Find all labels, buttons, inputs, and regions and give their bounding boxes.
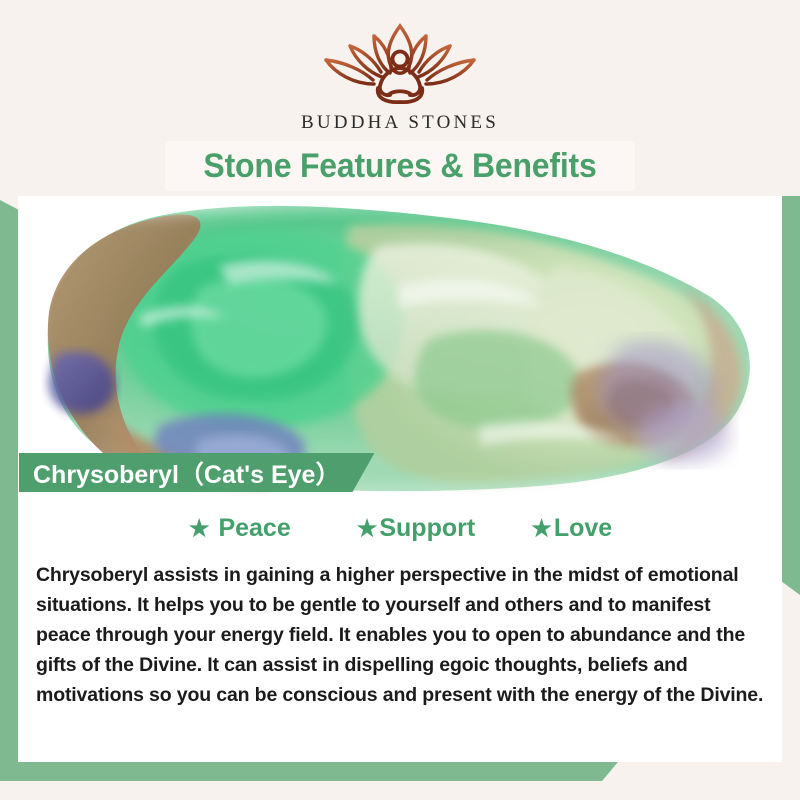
keyword-label: Love (554, 514, 612, 543)
card-header: BUDDHA STONES Stone Features & Benefits (0, 0, 800, 196)
star-icon: ★ (189, 517, 210, 540)
stone-name-banner: Chrysoberyl（Cat's Eye） (19, 453, 374, 492)
keyword-love: ★ Love (531, 514, 612, 543)
keyword-row: ★ Peace ★ Support ★ Love (19, 514, 782, 543)
lotus-meditation-icon (300, 16, 500, 108)
brand-name: BUDDHA STONES (0, 112, 800, 134)
keyword-peace: ★ Peace (189, 514, 291, 543)
frame-bar-left (0, 200, 19, 780)
page-title: Stone Features & Benefits (179, 142, 621, 190)
stone-photo (19, 196, 782, 496)
frame-bar-bottom (0, 762, 618, 781)
stone-description: Chrysoberyl assists in gaining a higher … (36, 560, 766, 710)
brand-logo: BUDDHA STONES (0, 16, 800, 134)
keyword-label: Peace (218, 514, 290, 543)
stone-info-card: BUDDHA STONES Stone Features & Benefits (0, 0, 800, 800)
star-icon: ★ (531, 517, 552, 540)
star-icon: ★ (357, 517, 378, 540)
stone-name: Chrysoberyl（Cat's Eye） (33, 455, 340, 491)
keyword-support: ★ Support (357, 514, 475, 543)
frame-bar-right (781, 150, 800, 595)
stone-photo-illustration (19, 196, 782, 496)
keyword-label: Support (379, 514, 475, 543)
